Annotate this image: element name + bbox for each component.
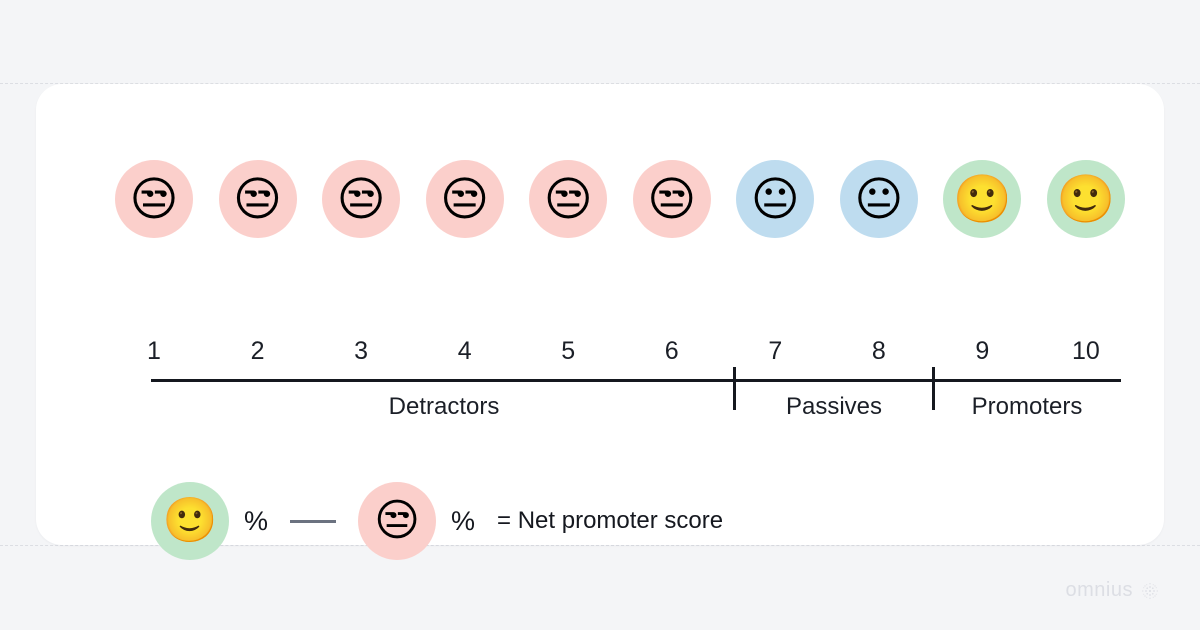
scale-bubble-1[interactable]: 😒	[115, 160, 193, 238]
scale-number-2: 2	[219, 337, 297, 366]
nps-scale-numbers: 1 2 3 4 5 6 7 8 9 10	[115, 337, 1125, 366]
omnius-dot-cluster-icon	[1140, 581, 1160, 601]
neutral-face-icon: 😐	[854, 176, 903, 223]
slightly-smiling-face-icon: 🙂	[1057, 176, 1116, 223]
formula-promoter-bubble: 🙂	[151, 482, 229, 560]
nps-diagram-card: 😒 😒 😒 😒 😒 😒 😐 😐 🙂 🙂 1 2	[36, 84, 1164, 545]
scale-bubble-2[interactable]: 😒	[219, 160, 297, 238]
scale-bubble-6[interactable]: 😒	[633, 160, 711, 238]
neutral-face-icon: 😐	[751, 176, 800, 223]
unamused-face-icon: 😒	[337, 176, 386, 223]
segment-label-detractors: Detractors	[346, 393, 542, 421]
unamused-face-icon: 😒	[647, 176, 696, 223]
scale-bubble-9[interactable]: 🙂	[943, 160, 1021, 238]
unamused-face-icon: 😒	[544, 176, 593, 223]
unamused-face-icon: 😒	[440, 176, 489, 223]
scale-bubble-4[interactable]: 😒	[426, 160, 504, 238]
formula-detractor-bubble: 😒	[358, 482, 436, 560]
unamused-face-icon: 😒	[130, 176, 179, 223]
unamused-face-icon: 😒	[233, 176, 282, 223]
nps-scale-bubbles: 😒 😒 😒 😒 😒 😒 😐 😐 🙂 🙂	[115, 157, 1125, 241]
scale-bubble-5[interactable]: 😒	[529, 160, 607, 238]
formula-result-label: = Net promoter score	[497, 507, 723, 535]
unamused-face-icon: 😒	[374, 499, 420, 543]
segment-label-promoters: Promoters	[929, 393, 1125, 421]
scale-number-5: 5	[529, 337, 607, 366]
slightly-smiling-face-icon: 🙂	[953, 176, 1012, 223]
scale-number-3: 3	[322, 337, 400, 366]
segment-label-passives: Passives	[736, 393, 932, 421]
formula-promoter-percent: %	[244, 506, 268, 537]
nps-formula: 🙂 % 😒 % = Net promoter score	[151, 482, 723, 560]
scale-number-4: 4	[426, 337, 504, 366]
scale-number-10: 10	[1047, 337, 1125, 366]
scale-bubble-8[interactable]: 😐	[840, 160, 918, 238]
scale-bubble-10[interactable]: 🙂	[1047, 160, 1125, 238]
scale-bubble-3[interactable]: 😒	[322, 160, 400, 238]
formula-detractor-percent: %	[451, 506, 475, 537]
scale-bubble-7[interactable]: 😐	[736, 160, 814, 238]
slightly-smiling-face-icon: 🙂	[163, 499, 218, 543]
scale-number-6: 6	[633, 337, 711, 366]
scale-number-9: 9	[943, 337, 1021, 366]
watermark-label: omnius	[1066, 579, 1133, 602]
scale-number-7: 7	[736, 337, 814, 366]
scale-number-8: 8	[840, 337, 918, 366]
scale-number-1: 1	[115, 337, 193, 366]
scale-axis-line	[151, 379, 1121, 382]
watermark: omnius	[1066, 579, 1160, 602]
minus-sign-icon	[290, 520, 336, 523]
